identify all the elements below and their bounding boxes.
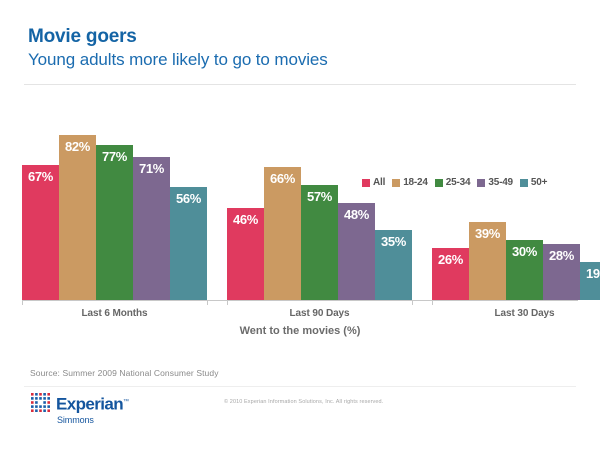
axis-tick (207, 301, 208, 305)
logo-row: Experian™ (30, 392, 128, 414)
bar[interactable]: 35% (375, 230, 412, 300)
experian-dot-matrix-icon (30, 392, 52, 414)
experian-logo: Experian™ Simmons (30, 392, 128, 425)
category-label: Last 90 Days (227, 308, 412, 319)
bar-value-label: 82% (59, 140, 96, 154)
logo-subbrand: Simmons (57, 415, 128, 425)
bar-value-label: 19% (580, 267, 600, 281)
category-label: Last 30 Days (432, 308, 600, 319)
copyright-notice: © 2010 Experian Information Solutions, I… (224, 399, 383, 405)
bar-value-label: 28% (543, 249, 580, 263)
bar[interactable]: 56% (170, 187, 207, 300)
bar-value-label: 48% (338, 208, 375, 222)
legend-label: 50+ (531, 177, 547, 188)
category-label: Last 6 Months (22, 308, 207, 319)
bar-value-label: 35% (375, 235, 412, 249)
legend-item[interactable]: 18-24 (392, 177, 428, 188)
legend-item[interactable]: 25-34 (435, 177, 471, 188)
chart-legend: All18-2425-3435-4950+ (362, 177, 547, 188)
logo-word-text: Experian (56, 394, 123, 413)
legend-item[interactable]: All (362, 177, 385, 188)
bar-value-label: 39% (469, 227, 506, 241)
legend-label: All (373, 177, 385, 188)
bar[interactable]: 77% (96, 145, 133, 300)
bar[interactable]: 30% (506, 240, 543, 300)
logo-wordmark: Experian™ (56, 393, 128, 414)
bar-value-label: 46% (227, 213, 264, 227)
bar-value-label: 66% (264, 172, 301, 186)
axis-tick (227, 301, 228, 305)
legend-item[interactable]: 35-49 (477, 177, 513, 188)
legend-label: 25-34 (446, 177, 471, 188)
bar-chart: 67%82%77%71%56%46%66%57%48%35%26%39%30%2… (0, 0, 600, 450)
bar[interactable]: 19% (580, 262, 600, 300)
bar-value-label: 56% (170, 192, 207, 206)
bar[interactable]: 82% (59, 135, 96, 300)
axis-tick (22, 301, 23, 305)
bar[interactable]: 39% (469, 222, 506, 300)
slide: Movie goers Young adults more likely to … (0, 0, 600, 450)
footer-divider (24, 386, 576, 387)
x-axis-title: Went to the movies (%) (0, 325, 600, 337)
bar[interactable]: 66% (264, 167, 301, 300)
bar[interactable]: 46% (227, 208, 264, 301)
bar[interactable]: 71% (133, 157, 170, 300)
bar-value-label: 30% (506, 245, 543, 259)
legend-label: 18-24 (403, 177, 428, 188)
legend-swatch-icon (520, 179, 528, 187)
axis-tick (432, 301, 433, 305)
bar[interactable]: 67% (22, 165, 59, 300)
bar-group: 46%66%57%48%35% (227, 119, 412, 300)
bar-value-label: 67% (22, 170, 59, 184)
bar-group: 26%39%30%28%19% (432, 119, 600, 300)
source-note: Source: Summer 2009 National Consumer St… (30, 368, 219, 378)
bar[interactable]: 57% (301, 185, 338, 300)
bar-value-label: 71% (133, 162, 170, 176)
bar[interactable]: 48% (338, 203, 375, 300)
legend-swatch-icon (392, 179, 400, 187)
legend-label: 35-49 (488, 177, 513, 188)
legend-item[interactable]: 50+ (520, 177, 547, 188)
bar-value-label: 26% (432, 253, 469, 267)
legend-swatch-icon (362, 179, 370, 187)
legend-swatch-icon (477, 179, 485, 187)
bar-value-label: 57% (301, 190, 338, 204)
bar-value-label: 77% (96, 150, 133, 164)
logo-trademark: ™ (123, 399, 128, 405)
axis-tick (412, 301, 413, 305)
chart-baseline (22, 300, 578, 301)
bar[interactable]: 28% (543, 244, 580, 300)
bar[interactable]: 26% (432, 248, 469, 300)
legend-swatch-icon (435, 179, 443, 187)
bar-group: 67%82%77%71%56% (22, 119, 207, 300)
